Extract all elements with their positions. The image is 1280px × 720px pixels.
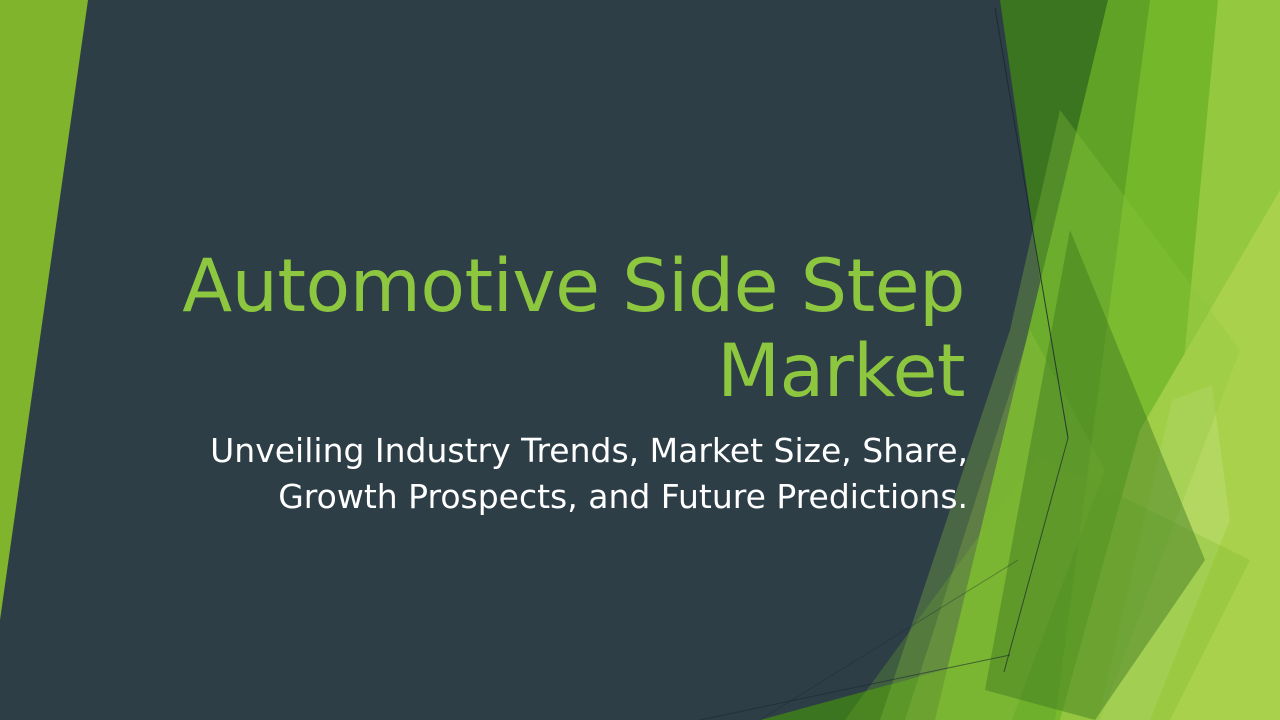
page-title: Automotive Side Step Market xyxy=(150,244,965,415)
title-slide: Automotive Side Step Market Unveiling In… xyxy=(0,0,1280,720)
slide-subtitle: Unveiling Industry Trends, Market Size, … xyxy=(150,428,968,519)
title-block: Automotive Side Step Market xyxy=(150,244,965,415)
subtitle-block: Unveiling Industry Trends, Market Size, … xyxy=(150,428,968,519)
slide-text-layer: Automotive Side Step Market Unveiling In… xyxy=(0,0,1280,720)
